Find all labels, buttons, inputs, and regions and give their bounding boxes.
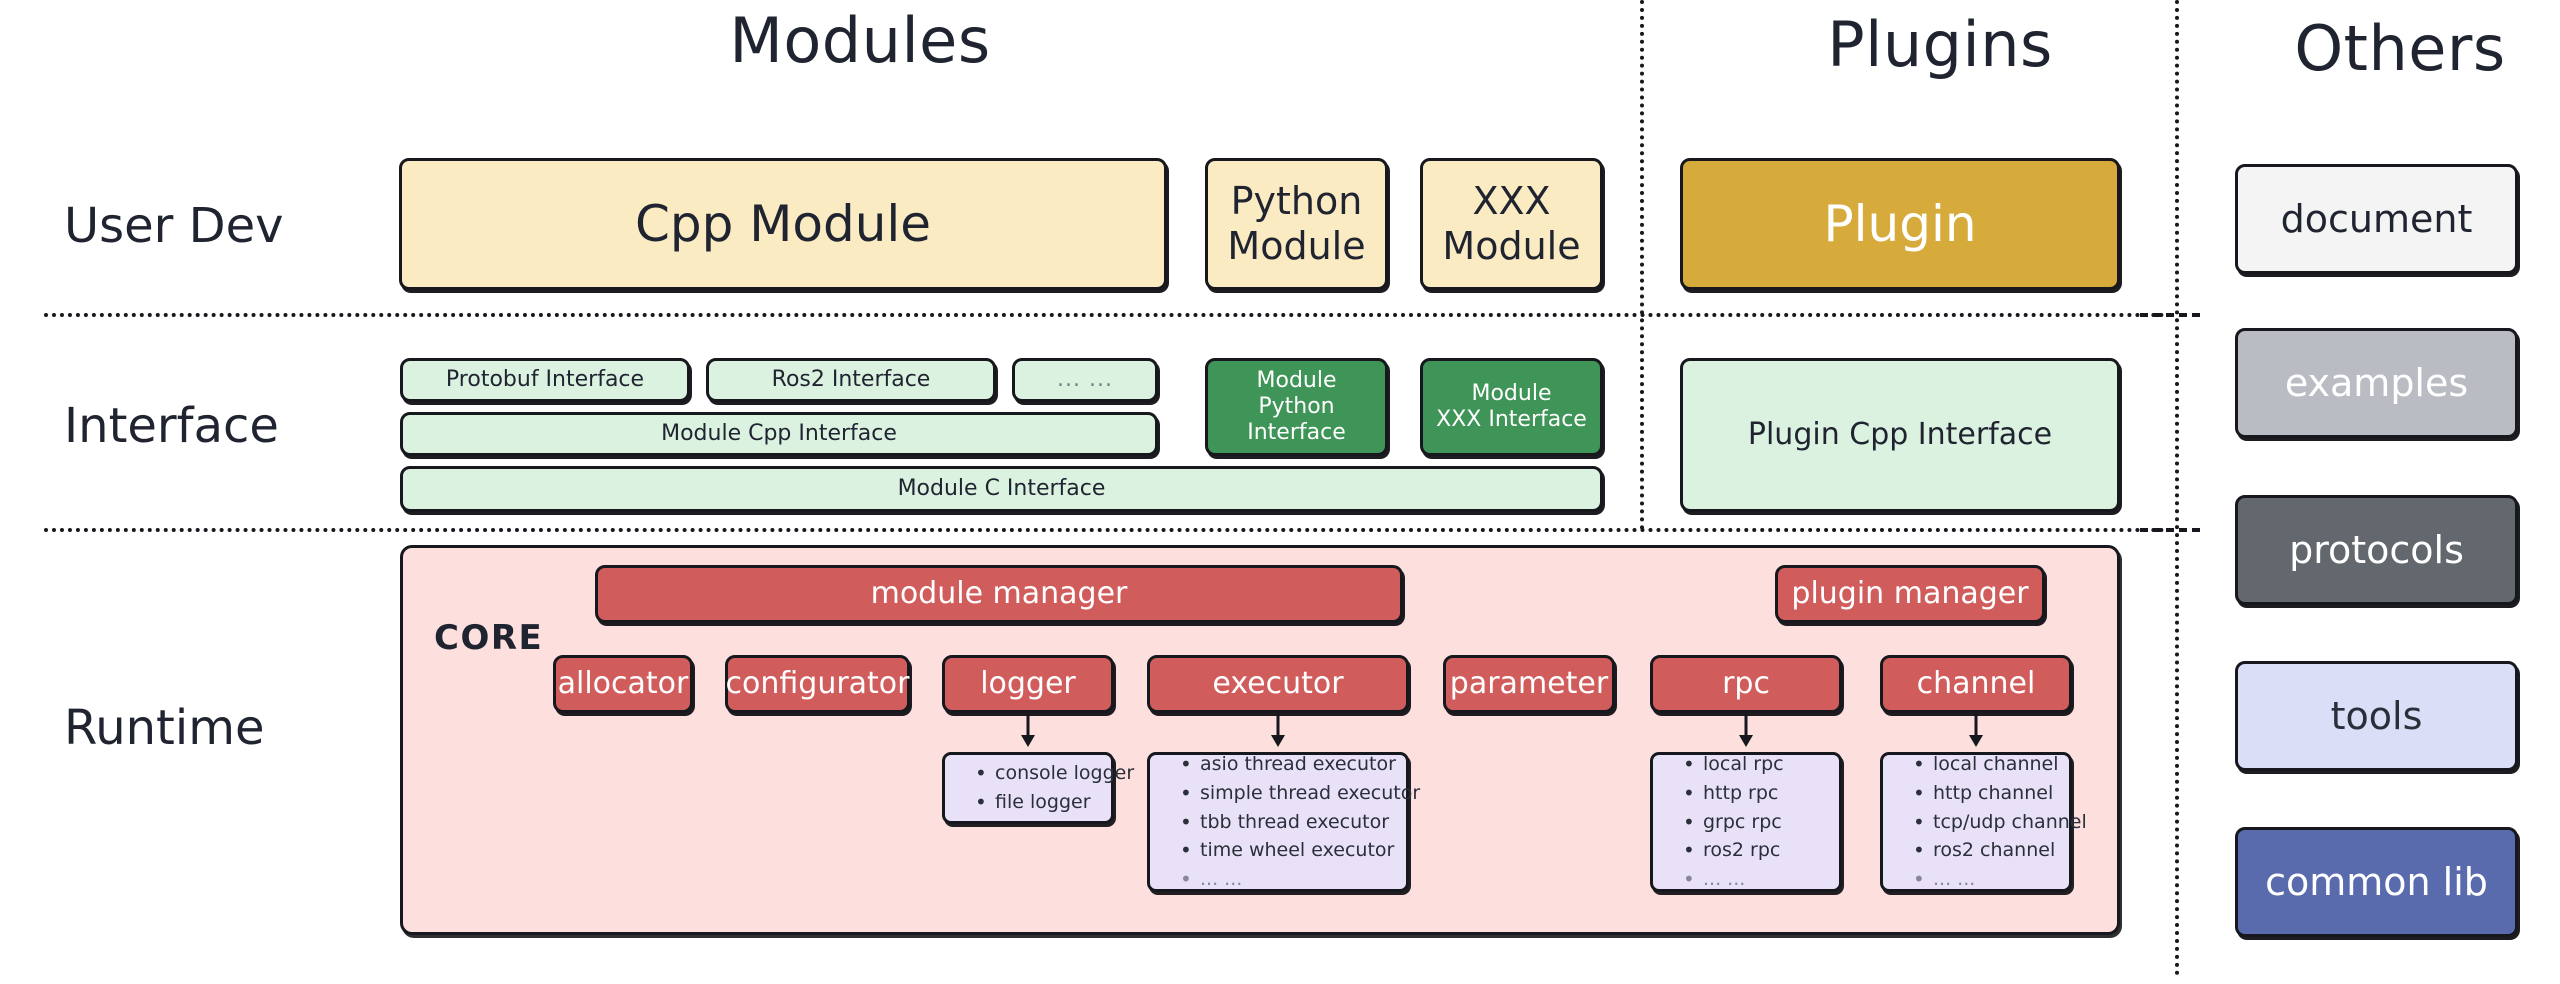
- others-item-protocols[interactable]: protocols: [2235, 495, 2518, 605]
- channel-arrow-icon: [1963, 714, 1989, 748]
- allocator-box[interactable]: allocator: [553, 655, 693, 713]
- divider-interface-runtime: [44, 528, 2174, 532]
- list-item: time wheel executor: [1180, 836, 1420, 865]
- others-item-tools-label: tools: [2331, 694, 2423, 739]
- executor-label: executor: [1212, 666, 1343, 701]
- divider-others-1: [2140, 313, 2200, 317]
- list-item: ... ...: [1913, 865, 2087, 894]
- cpp-module-box[interactable]: Cpp Module: [399, 158, 1167, 290]
- logger-arrow-icon: [1015, 714, 1041, 748]
- plugin-cpp-interface-box[interactable]: Plugin Cpp Interface: [1680, 358, 2120, 512]
- rpc-details-list: local rpc http rpc grpc rpc ros2 rpc ...…: [1653, 750, 1784, 894]
- list-item: http channel: [1913, 779, 2087, 808]
- python-module-box[interactable]: Python Module: [1205, 158, 1388, 290]
- configurator-label: configurator: [726, 666, 910, 701]
- module-manager-label: module manager: [871, 576, 1128, 611]
- list-item: simple thread executor: [1180, 779, 1420, 808]
- cpp-module-label: Cpp Module: [635, 195, 931, 254]
- column-title-others: Others: [2230, 12, 2560, 85]
- core-label: CORE: [434, 618, 543, 658]
- plugin-manager-label: plugin manager: [1791, 576, 2028, 611]
- logger-box[interactable]: logger: [942, 655, 1114, 713]
- divider-user-dev-interface: [44, 313, 2174, 317]
- list-item: local channel: [1913, 750, 2087, 779]
- row-title-runtime: Runtime: [64, 700, 264, 756]
- plugin-cpp-interface-label: Plugin Cpp Interface: [1748, 417, 2052, 452]
- channel-box[interactable]: channel: [1880, 655, 2072, 713]
- logger-details-list: console logger file logger: [945, 759, 1134, 817]
- logger-label: logger: [980, 666, 1076, 701]
- column-title-plugins: Plugins: [1760, 8, 2120, 81]
- protobuf-interface-label: Protobuf Interface: [446, 367, 644, 393]
- list-item: tcp/udp channel: [1913, 808, 2087, 837]
- rpc-details-box: local rpc http rpc grpc rpc ros2 rpc ...…: [1650, 752, 1842, 892]
- row-title-user-dev: User Dev: [64, 198, 284, 254]
- divider-modules-plugins: [1640, 0, 1644, 530]
- allocator-label: allocator: [558, 666, 689, 701]
- list-item: grpc rpc: [1683, 808, 1784, 837]
- module-manager-box[interactable]: module manager: [595, 565, 1403, 623]
- module-python-interface-box[interactable]: Module Python Interface: [1205, 358, 1388, 456]
- channel-label: channel: [1917, 666, 2036, 701]
- channel-details-box: local channel http channel tcp/udp chann…: [1880, 752, 2072, 892]
- module-cpp-interface-box[interactable]: Module Cpp Interface: [400, 412, 1158, 456]
- others-item-tools[interactable]: tools: [2235, 661, 2518, 771]
- list-item: asio thread executor: [1180, 750, 1420, 779]
- others-item-document-label: document: [2281, 197, 2473, 242]
- xxx-module-label: XXX Module: [1442, 179, 1580, 269]
- list-item: ... ...: [1683, 865, 1784, 894]
- more-interfaces-box[interactable]: ... ...: [1012, 358, 1158, 402]
- others-item-common-lib-label: common lib: [2265, 860, 2488, 905]
- executor-details-box: asio thread executor simple thread execu…: [1147, 752, 1409, 892]
- module-c-interface-label: Module C Interface: [898, 476, 1106, 502]
- module-python-interface-label: Module Python Interface: [1208, 368, 1385, 446]
- logger-details-box: console logger file logger: [942, 752, 1114, 824]
- plugin-manager-box[interactable]: plugin manager: [1775, 565, 2045, 623]
- list-item: ... ...: [1180, 865, 1420, 894]
- configurator-box[interactable]: configurator: [725, 655, 910, 713]
- list-item: file logger: [975, 788, 1134, 817]
- row-title-interface: Interface: [64, 398, 279, 454]
- others-item-document[interactable]: document: [2235, 164, 2518, 274]
- module-cpp-interface-label: Module Cpp Interface: [661, 421, 897, 447]
- module-xxx-interface-box[interactable]: Module XXX Interface: [1420, 358, 1603, 456]
- list-item: tbb thread executor: [1180, 808, 1420, 837]
- ros2-interface-box[interactable]: Ros2 Interface: [706, 358, 996, 402]
- parameter-label: parameter: [1450, 666, 1608, 701]
- divider-plugins-others: [2175, 0, 2179, 976]
- rpc-box[interactable]: rpc: [1650, 655, 1842, 713]
- plugin-label: Plugin: [1823, 195, 1976, 254]
- python-module-label: Python Module: [1227, 179, 1365, 269]
- protobuf-interface-box[interactable]: Protobuf Interface: [400, 358, 690, 402]
- executor-box[interactable]: executor: [1147, 655, 1409, 713]
- module-c-interface-box[interactable]: Module C Interface: [400, 466, 1603, 512]
- executor-arrow-icon: [1265, 714, 1291, 748]
- column-title-modules: Modules: [560, 4, 1160, 77]
- others-item-examples[interactable]: examples: [2235, 328, 2518, 438]
- rpc-arrow-icon: [1733, 714, 1759, 748]
- parameter-box[interactable]: parameter: [1443, 655, 1615, 713]
- list-item: ros2 channel: [1913, 836, 2087, 865]
- executor-details-list: asio thread executor simple thread execu…: [1150, 750, 1420, 894]
- module-xxx-interface-label: Module XXX Interface: [1436, 381, 1587, 433]
- divider-others-2: [2140, 528, 2200, 532]
- architecture-diagram: Modules Plugins Others User Dev Interfac…: [0, 0, 2560, 984]
- others-item-examples-label: examples: [2285, 361, 2468, 406]
- xxx-module-box[interactable]: XXX Module: [1420, 158, 1603, 290]
- channel-details-list: local channel http channel tcp/udp chann…: [1883, 750, 2087, 894]
- ros2-interface-label: Ros2 Interface: [772, 367, 931, 393]
- others-item-protocols-label: protocols: [2289, 528, 2464, 573]
- plugin-box[interactable]: Plugin: [1680, 158, 2120, 290]
- list-item: http rpc: [1683, 779, 1784, 808]
- list-item: console logger: [975, 759, 1134, 788]
- rpc-label: rpc: [1722, 666, 1770, 701]
- others-item-common-lib[interactable]: common lib: [2235, 827, 2518, 937]
- list-item: local rpc: [1683, 750, 1784, 779]
- more-interfaces-label: ... ...: [1057, 367, 1113, 393]
- list-item: ros2 rpc: [1683, 836, 1784, 865]
